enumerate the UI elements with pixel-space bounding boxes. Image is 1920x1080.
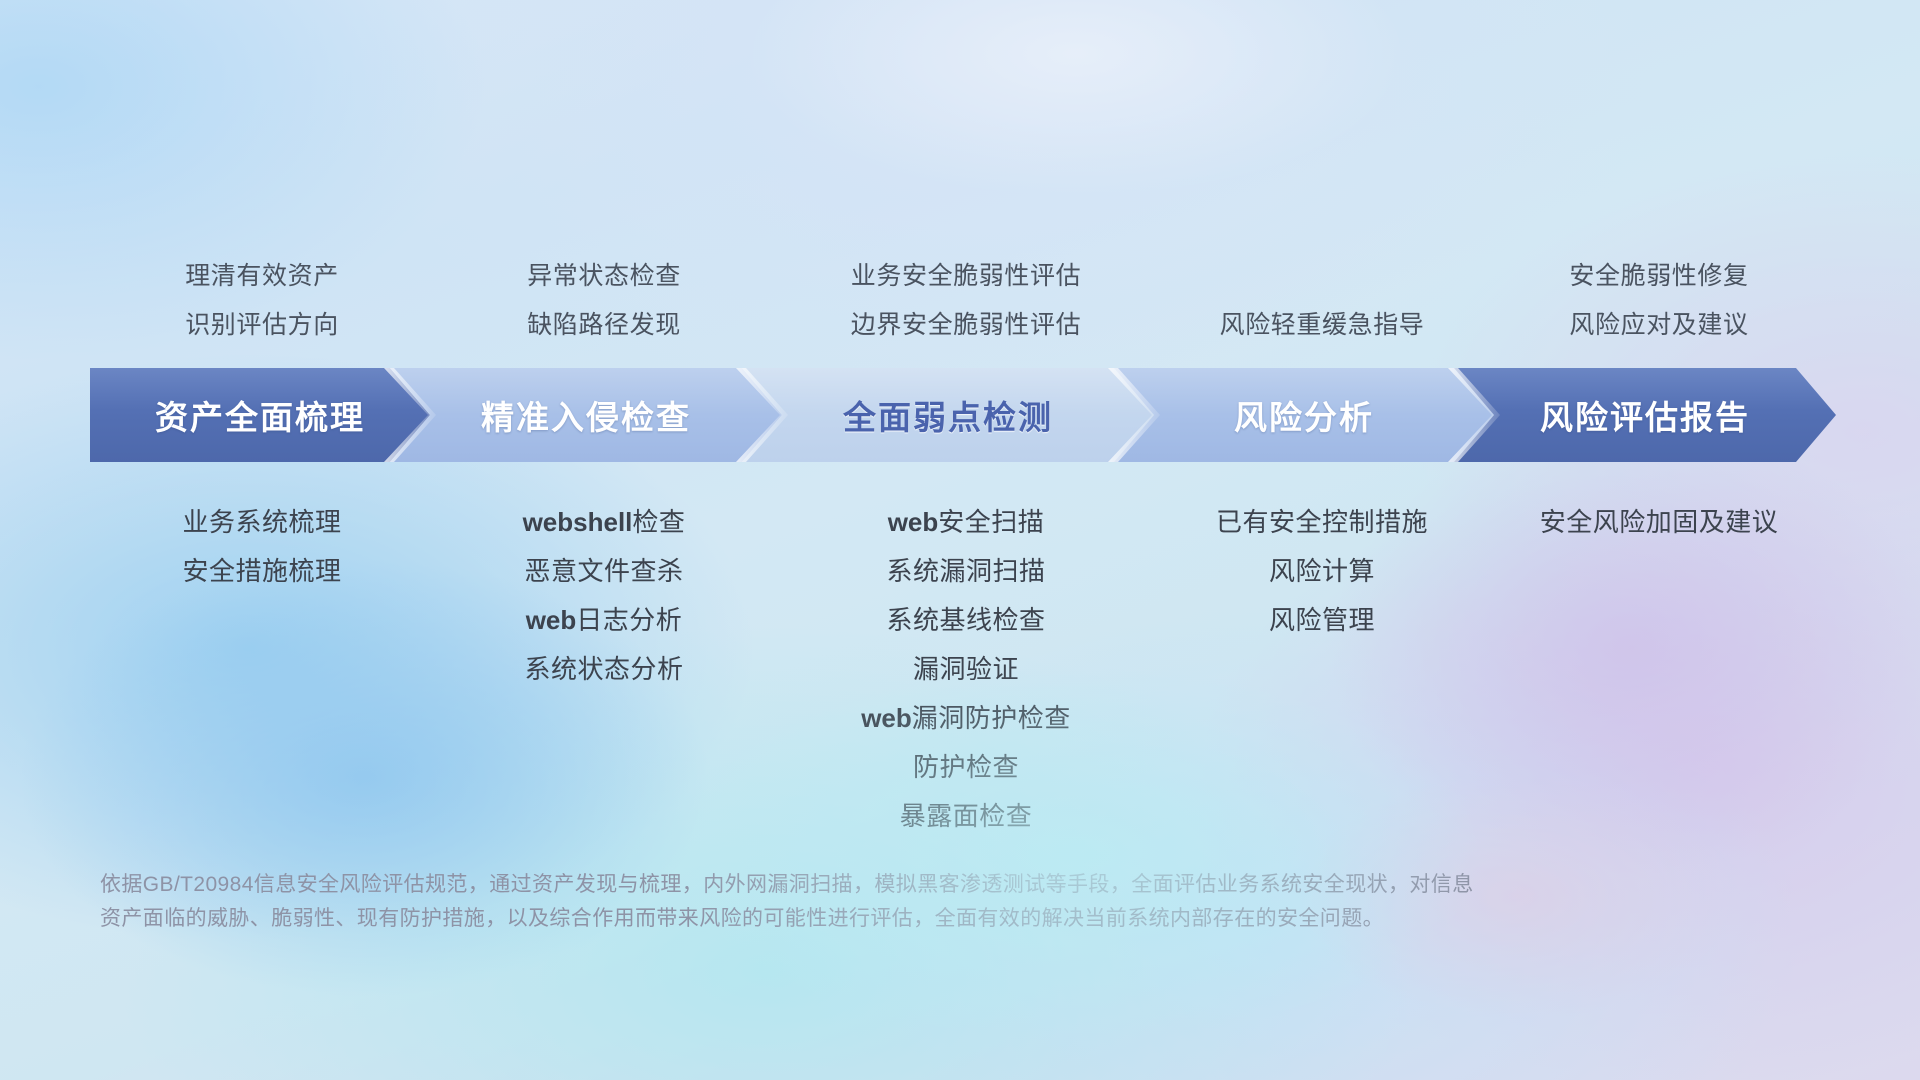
detail-list-4: 已有安全控制措施 风险计算 风险管理 (1152, 498, 1492, 645)
top-notes-area-5: 安全脆弱性修复 风险应对及建议 (1492, 210, 1826, 350)
top-note: 缺陷路径发现 (527, 301, 681, 350)
footer-description: 依据GB/T20984信息安全风险评估规范，通过资产发现与梳理，内外网漏洞扫描，… (100, 868, 1640, 936)
process-stage-4[interactable]: 风险分析 (1114, 368, 1494, 462)
top-notes-4: 风险轻重缓急指导 (1152, 301, 1492, 350)
process-stage-label: 风险分析 (1234, 391, 1374, 439)
process-stage-5[interactable]: 风险评估报告 (1454, 368, 1836, 462)
top-note: 理清有效资产 (185, 252, 339, 301)
list-item: 已有安全控制措施 (1216, 498, 1428, 547)
top-note: 边界安全脆弱性评估 (851, 301, 1081, 350)
list-item: 安全措施梳理 (182, 547, 341, 596)
list-item: web安全扫描 (888, 498, 1045, 547)
detail-list-5: 安全风险加固及建议 (1492, 498, 1826, 547)
top-note: 异常状态检查 (527, 252, 681, 301)
top-note: 风险应对及建议 (1569, 301, 1748, 350)
process-stage-2[interactable]: 精准入侵检查 (390, 368, 782, 462)
process-stage-label: 精准入侵检查 (481, 391, 691, 439)
list-item: 风险计算 (1269, 547, 1375, 596)
footer-line-2: 资产面临的威胁、脆弱性、现有防护措施，以及综合作用而带来风险的可能性进行评估，全… (100, 902, 1640, 936)
list-item: web漏洞防护检查 (861, 694, 1071, 743)
list-item: 系统状态分析 (524, 645, 683, 694)
list-item: webshell检查 (523, 498, 686, 547)
top-notes-area-2: 异常状态检查 缺陷路径发现 (428, 210, 780, 350)
process-stage-label: 资产全面梳理 (155, 391, 365, 439)
process-stage-3[interactable]: 全面弱点检测 (742, 368, 1154, 462)
footer-line-1: 依据GB/T20984信息安全风险评估规范，通过资产发现与梳理，内外网漏洞扫描，… (100, 868, 1640, 902)
top-notes-2: 异常状态检查 缺陷路径发现 (428, 252, 780, 350)
top-note: 识别评估方向 (185, 301, 339, 350)
top-notes-5: 安全脆弱性修复 风险应对及建议 (1492, 252, 1826, 350)
detail-list-1: 业务系统梳理 安全措施梳理 (96, 498, 428, 596)
top-notes-area-1: 理清有效资产 识别评估方向 (96, 210, 428, 350)
list-item: 系统基线检查 (886, 596, 1045, 645)
process-stage-1[interactable]: 资产全面梳理 (90, 368, 430, 462)
list-item: 安全风险加固及建议 (1540, 498, 1779, 547)
process-arrow-band: 资产全面梳理 精准入侵检查 全面弱点检测 风险分析 风险评估报告 (90, 368, 1836, 462)
list-item: 恶意文件查杀 (524, 547, 683, 596)
list-item: 暴露面检查 (900, 792, 1033, 841)
process-stage-label: 风险评估报告 (1540, 391, 1750, 439)
top-notes-area-3: 业务安全脆弱性评估 边界安全脆弱性评估 (780, 210, 1152, 350)
top-note: 业务安全脆弱性评估 (851, 252, 1081, 301)
top-notes-1: 理清有效资产 识别评估方向 (96, 252, 428, 350)
list-item: 风险管理 (1269, 596, 1375, 645)
list-item: 系统漏洞扫描 (886, 547, 1045, 596)
list-item: 漏洞验证 (913, 645, 1019, 694)
top-note: 安全脆弱性修复 (1569, 252, 1748, 301)
detail-list-2: webshell检查 恶意文件查杀 web日志分析 系统状态分析 (428, 498, 780, 694)
top-notes-area-4: 风险轻重缓急指导 (1152, 210, 1492, 350)
list-item: web日志分析 (526, 596, 683, 645)
list-item: 业务系统梳理 (182, 498, 341, 547)
slide-canvas: 理清有效资产 识别评估方向 业务系统梳理 安全措施梳理 异常状态检查 缺陷路径发… (0, 0, 1920, 1080)
detail-list-3: web安全扫描 系统漏洞扫描 系统基线检查 漏洞验证 web漏洞防护检查 防护检… (780, 498, 1152, 841)
top-note: 风险轻重缓急指导 (1220, 301, 1425, 350)
list-item: 防护检查 (913, 743, 1019, 792)
top-notes-3: 业务安全脆弱性评估 边界安全脆弱性评估 (780, 252, 1152, 350)
process-stage-label: 全面弱点检测 (843, 391, 1053, 439)
